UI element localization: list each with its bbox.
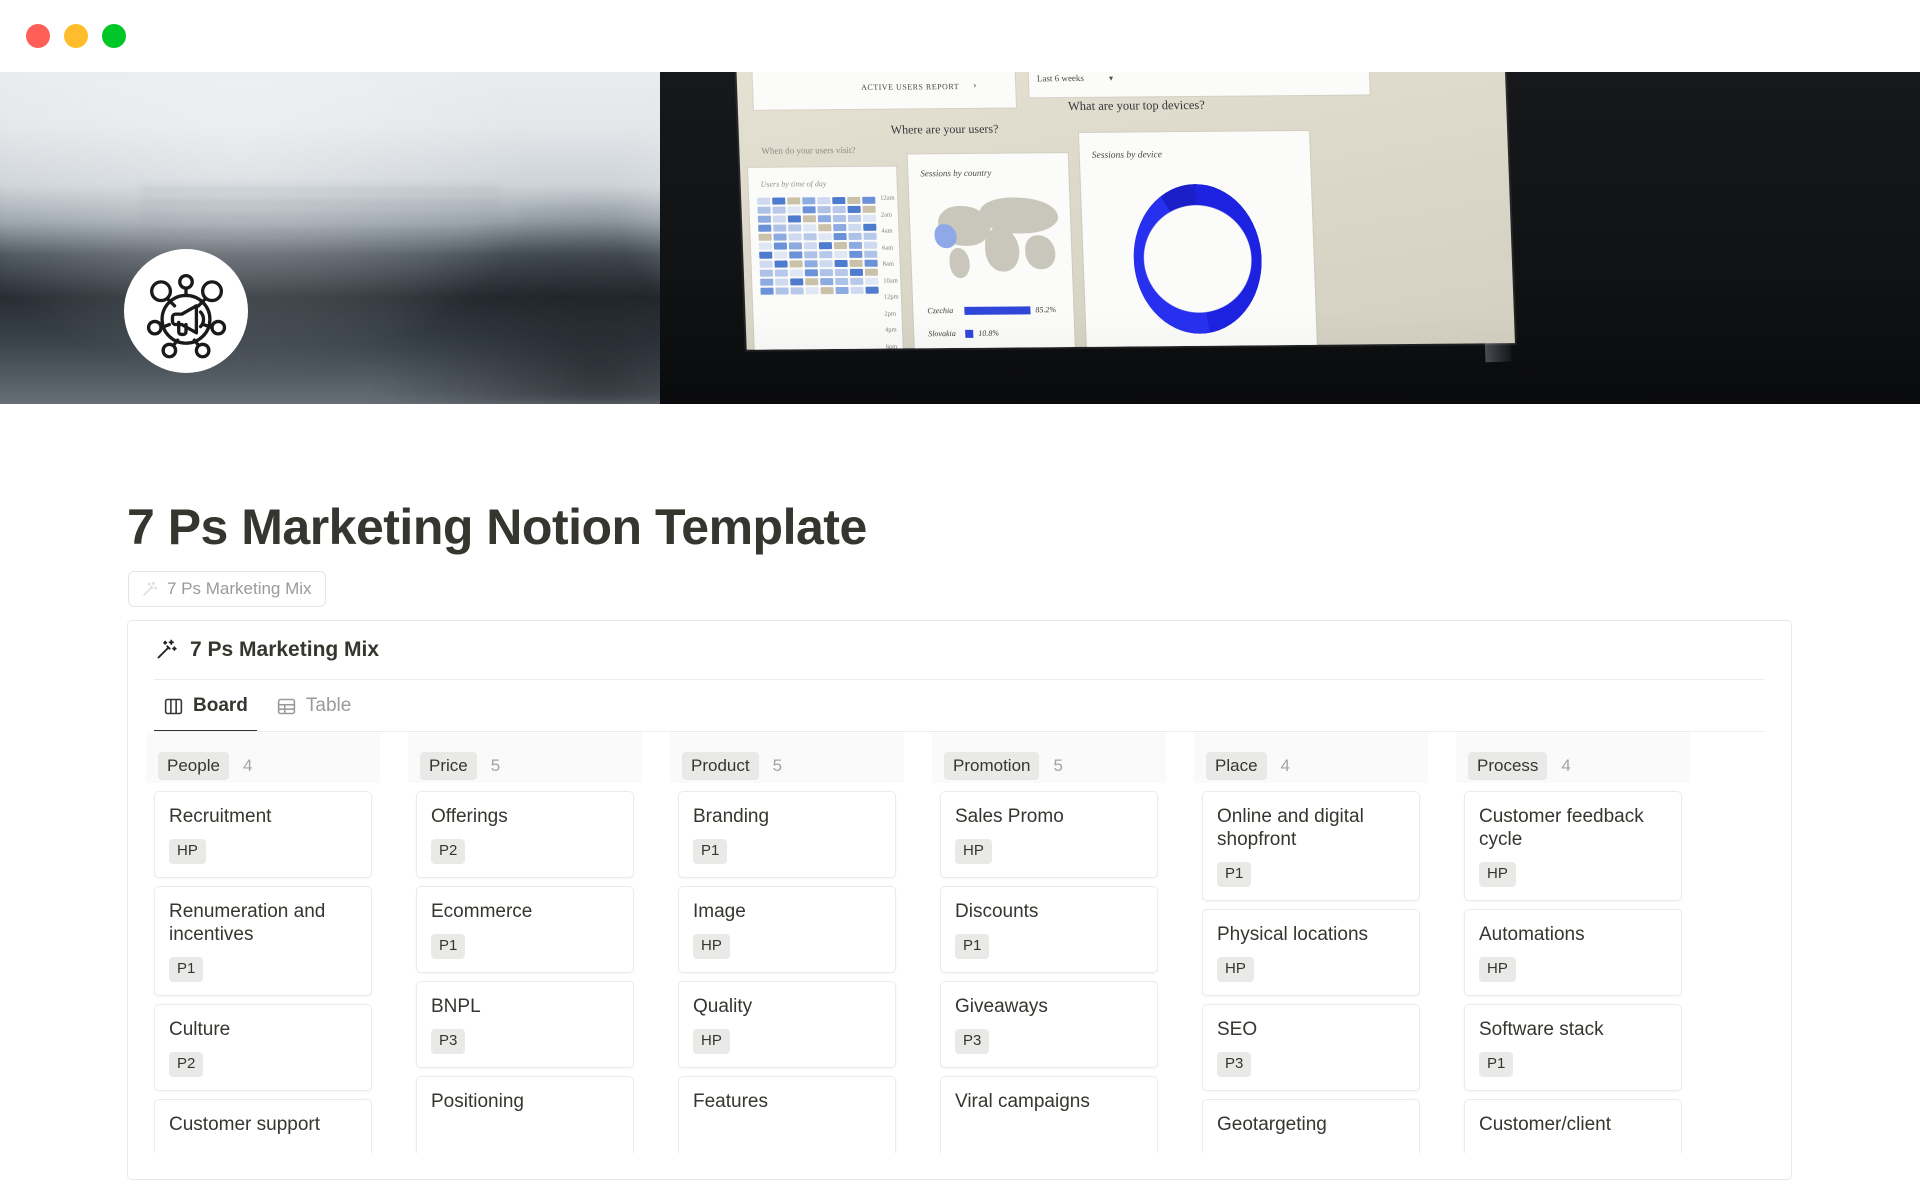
heatmap-cell bbox=[802, 206, 815, 213]
heatmap-cell bbox=[760, 270, 773, 277]
board-column-cards: Online and digital shopfrontP1Physical l… bbox=[1202, 791, 1420, 1153]
heatmap-cell bbox=[805, 287, 818, 294]
board-column-name: Promotion bbox=[944, 752, 1039, 779]
heatmap-time-tick: 4pm bbox=[885, 327, 897, 334]
heatmap-cell bbox=[772, 207, 785, 214]
tab-board[interactable]: Board bbox=[154, 680, 257, 732]
heatmap-cell bbox=[832, 206, 845, 213]
board-card-title: Customer support bbox=[169, 1113, 357, 1136]
page-icon-avatar[interactable] bbox=[124, 249, 248, 373]
heatmap-cell bbox=[834, 242, 847, 249]
heatmap-cell bbox=[775, 278, 788, 285]
heatmap-cell bbox=[788, 215, 801, 222]
board-column-header[interactable]: Place4 bbox=[1202, 749, 1420, 783]
heatmap-cell bbox=[759, 261, 772, 268]
heatmap-cell bbox=[835, 287, 848, 294]
board-column-header-band: People4 bbox=[146, 733, 380, 783]
board-card-title: Customer/client bbox=[1479, 1113, 1667, 1136]
board-card-title: Geotargeting bbox=[1217, 1113, 1405, 1136]
board-column-cards: BrandingP1ImageHPQualityHPFeatures bbox=[678, 791, 896, 1153]
board-column-header[interactable]: Price5 bbox=[416, 749, 634, 783]
board-card[interactable]: Sales PromoHP bbox=[940, 791, 1158, 878]
database-title[interactable]: 7 Ps Marketing Mix bbox=[190, 638, 379, 662]
heatmap-time-tick: 12pm bbox=[884, 293, 899, 300]
board-column-count: 5 bbox=[491, 756, 500, 776]
board-column-header-band: Place4 bbox=[1194, 733, 1428, 783]
board-card-priority-tag: HP bbox=[1479, 957, 1516, 982]
heatmap-cell bbox=[820, 278, 833, 285]
board-card[interactable]: OfferingsP2 bbox=[416, 791, 634, 878]
board-card[interactable]: Renumeration and incentivesP1 bbox=[154, 886, 372, 996]
heatmap-cell bbox=[804, 242, 817, 249]
board-view: People4RecruitmentHPRenumeration and inc… bbox=[128, 733, 1791, 1153]
heatmap-cell bbox=[790, 269, 803, 276]
board-card-title: Quality bbox=[693, 995, 881, 1018]
heatmap-users-by-time bbox=[757, 197, 879, 295]
heatmap-cell bbox=[863, 224, 876, 231]
heatmap-cell bbox=[847, 206, 860, 213]
active-users-report-label: ACTIVE USERS REPORT bbox=[861, 82, 959, 92]
heatmap-cell bbox=[818, 224, 831, 231]
close-window-button[interactable] bbox=[26, 24, 50, 48]
heatmap-cell bbox=[802, 197, 815, 204]
heatmap-cell bbox=[773, 233, 786, 240]
heatmap-cell bbox=[849, 251, 862, 258]
board-column-name: Price bbox=[420, 752, 477, 779]
heatmap-cell bbox=[790, 278, 803, 285]
database-header: 7 Ps Marketing Mix bbox=[128, 621, 1791, 679]
board-column-cards: OfferingsP2EcommerceP1BNPLP3Positioning bbox=[416, 791, 634, 1153]
heatmap-cell bbox=[847, 197, 860, 204]
heatmap-cell bbox=[805, 269, 818, 276]
board-card-title: BNPL bbox=[431, 995, 619, 1018]
board-card-priority-tag: HP bbox=[955, 839, 992, 864]
question-when-users-visit: When do your users visit? bbox=[761, 145, 855, 156]
board-column-name: People bbox=[158, 752, 229, 779]
heatmap-cell bbox=[804, 251, 817, 258]
heatmap-cell bbox=[758, 234, 771, 241]
heatmap-cell bbox=[864, 260, 877, 267]
chevron-right-icon: › bbox=[973, 80, 977, 91]
date-range-selector[interactable]: Last 6 weeks bbox=[1037, 73, 1084, 83]
board-column-process: Process4Customer feedback cycleHPAutomat… bbox=[1464, 749, 1682, 1153]
heatmap-time-tick: 6pm bbox=[886, 343, 898, 350]
heatmap-cell bbox=[848, 233, 861, 240]
chart-title-users-by-time: Users by time of day bbox=[760, 179, 826, 189]
board-column-count: 5 bbox=[1053, 756, 1062, 776]
heatmap-cell bbox=[820, 269, 833, 276]
heatmap-time-tick: 8am bbox=[883, 261, 894, 268]
breadcrumb[interactable]: 7 Ps Marketing Mix bbox=[128, 571, 326, 607]
board-column-name: Place bbox=[1206, 752, 1267, 779]
heatmap-cell bbox=[818, 215, 831, 222]
heatmap-cell bbox=[865, 287, 878, 294]
heatmap-cell bbox=[787, 206, 800, 213]
heatmap-time-tick: 2pm bbox=[884, 310, 896, 317]
chart-title-sessions-by-device: Sessions by device bbox=[1092, 150, 1163, 161]
board-column-cards: RecruitmentHPRenumeration and incentives… bbox=[154, 791, 372, 1153]
board-card-priority-tag: P1 bbox=[431, 934, 465, 959]
heatmap-cell bbox=[833, 224, 846, 231]
heatmap-time-tick: 12am bbox=[880, 195, 895, 202]
heatmap-cell bbox=[832, 197, 845, 204]
board-column-header[interactable]: Process4 bbox=[1464, 749, 1682, 783]
board-card[interactable]: ImageHP bbox=[678, 886, 896, 973]
board-card-title: Giveaways bbox=[955, 995, 1143, 1018]
board-column-header-band: Price5 bbox=[408, 733, 642, 783]
heatmap-cell bbox=[863, 206, 876, 213]
board-card-title: Software stack bbox=[1479, 1018, 1667, 1041]
board-card-priority-tag: HP bbox=[169, 839, 206, 864]
heatmap-cell bbox=[773, 216, 786, 223]
board-card[interactable]: Viral campaigns bbox=[940, 1076, 1158, 1153]
heatmap-cell bbox=[774, 242, 787, 249]
board-card-priority-tag: P1 bbox=[693, 839, 727, 864]
minimize-window-button[interactable] bbox=[64, 24, 88, 48]
heatmap-cell bbox=[788, 224, 801, 231]
board-card[interactable]: SEOP3 bbox=[1202, 1004, 1420, 1091]
board-card-title: Offerings bbox=[431, 805, 619, 828]
board-column-promotion: Promotion5Sales PromoHPDiscountsP1Giveaw… bbox=[940, 749, 1158, 1153]
board-card[interactable]: QualityHP bbox=[678, 981, 896, 1068]
heatmap-cell bbox=[863, 233, 876, 240]
magic-wand-icon bbox=[140, 580, 159, 599]
board-card-priority-tag: HP bbox=[1217, 957, 1254, 982]
board-column-name: Process bbox=[1468, 752, 1547, 779]
board-column-count: 4 bbox=[243, 756, 252, 776]
heatmap-cell bbox=[789, 251, 802, 258]
cover-shelf-blur bbox=[140, 188, 500, 258]
heatmap-cell bbox=[848, 224, 861, 231]
heatmap-time-tick: 4am bbox=[881, 228, 892, 235]
board-card[interactable]: CultureP2 bbox=[154, 1004, 372, 1091]
board-card[interactable]: Physical locationsHP bbox=[1202, 909, 1420, 996]
board-card-title: Ecommerce bbox=[431, 900, 619, 923]
board-column-name: Product bbox=[682, 752, 759, 779]
tab-label: Board bbox=[193, 695, 248, 717]
board-card-priority-tag: P3 bbox=[431, 1029, 465, 1054]
country-label-1: Czechia bbox=[927, 306, 959, 315]
heatmap-cell bbox=[849, 260, 862, 267]
board-column-header-band: Promotion5 bbox=[932, 733, 1166, 783]
heatmap-cell bbox=[805, 278, 818, 285]
heatmap-cell bbox=[789, 242, 802, 249]
heatmap-cell bbox=[789, 260, 802, 267]
board-card-title: Image bbox=[693, 900, 881, 923]
heatmap-cell bbox=[864, 242, 877, 249]
board-column-cards: Customer feedback cycleHPAutomationsHPSo… bbox=[1464, 791, 1682, 1153]
country-bar-1 bbox=[964, 306, 1030, 315]
board-card[interactable]: Software stackP1 bbox=[1464, 1004, 1682, 1091]
board-card-priority-tag: P2 bbox=[431, 839, 465, 864]
country-value-1: 85.2% bbox=[1035, 305, 1056, 314]
board-column-place: Place4Online and digital shopfrontP1Phys… bbox=[1202, 749, 1420, 1153]
board-column-header[interactable]: Product5 bbox=[678, 749, 896, 783]
board-column-header[interactable]: Promotion5 bbox=[940, 749, 1158, 783]
board-column-count: 5 bbox=[773, 756, 782, 776]
database-tabs-divider bbox=[154, 731, 1765, 732]
heatmap-cell bbox=[760, 288, 773, 295]
board-card[interactable]: Geotargeting bbox=[1202, 1099, 1420, 1153]
board-card-title: Physical locations bbox=[1217, 923, 1405, 946]
heatmap-cell bbox=[774, 260, 787, 267]
tab-table[interactable]: Table bbox=[267, 680, 360, 732]
heatmap-cell bbox=[865, 278, 878, 285]
heatmap-cell bbox=[803, 233, 816, 240]
board-card[interactable]: BrandingP1 bbox=[678, 791, 896, 878]
board-card-priority-tag: HP bbox=[1479, 862, 1516, 887]
heatmap-cell bbox=[819, 251, 832, 258]
board-card[interactable]: GiveawaysP3 bbox=[940, 981, 1158, 1068]
heatmap-cell bbox=[788, 233, 801, 240]
marketing-megaphone-network-icon bbox=[134, 259, 238, 363]
heatmap-cell bbox=[775, 287, 788, 294]
heatmap-cell bbox=[803, 224, 816, 231]
board-column-header-band: Product5 bbox=[670, 733, 904, 783]
board-card-priority-tag: P1 bbox=[1217, 862, 1251, 887]
heatmap-cell bbox=[864, 251, 877, 258]
heatmap-cell bbox=[790, 287, 803, 294]
country-bar-row-2: Slovakia 10.8% bbox=[928, 329, 999, 339]
heatmap-cell bbox=[787, 197, 800, 204]
heatmap-time-tick: 6am bbox=[882, 244, 893, 251]
board-card-priority-tag: P1 bbox=[169, 957, 203, 982]
heatmap-cell bbox=[758, 225, 771, 232]
board-card-title: Features bbox=[693, 1090, 881, 1113]
heatmap-cell bbox=[759, 252, 772, 259]
heatmap-cell bbox=[773, 225, 786, 232]
board-card-title: SEO bbox=[1217, 1018, 1405, 1041]
board-card-title: Branding bbox=[693, 805, 881, 828]
board-card[interactable]: Online and digital shopfrontP1 bbox=[1202, 791, 1420, 901]
window-titlebar bbox=[0, 0, 1920, 72]
board-card[interactable]: AutomationsHP bbox=[1464, 909, 1682, 996]
heatmap-cell bbox=[865, 269, 878, 276]
board-card-priority-tag: P1 bbox=[1479, 1052, 1513, 1077]
heatmap-cell bbox=[850, 278, 863, 285]
heatmap-cell bbox=[757, 207, 770, 214]
heatmap-cell bbox=[772, 198, 785, 205]
laptop-body: ACTIVE USERS REPORT › Last 6 weeks ▾ COH… bbox=[660, 72, 1920, 404]
heatmap-cell bbox=[833, 215, 846, 222]
board-column-people: People4RecruitmentHPRenumeration and inc… bbox=[154, 749, 372, 1153]
board-card-priority-tag: P3 bbox=[955, 1029, 989, 1054]
board-card-title: Viral campaigns bbox=[955, 1090, 1143, 1113]
heatmap-cell bbox=[850, 269, 863, 276]
board-card-title: Automations bbox=[1479, 923, 1667, 946]
board-card[interactable]: Positioning bbox=[416, 1076, 634, 1153]
heatmap-cell bbox=[834, 251, 847, 258]
board-card-title: Sales Promo bbox=[955, 805, 1143, 828]
heatmap-cell bbox=[817, 197, 830, 204]
board-column-header-band: Process4 bbox=[1456, 733, 1690, 783]
board-card-priority-tag: HP bbox=[693, 1029, 730, 1054]
heatmap-cell bbox=[848, 215, 861, 222]
board-card-title: Customer feedback cycle bbox=[1479, 805, 1667, 851]
heatmap-cell bbox=[820, 287, 833, 294]
heatmap-cell bbox=[818, 233, 831, 240]
board-column-price: Price5OfferingsP2EcommerceP1BNPLP3Positi… bbox=[416, 749, 634, 1153]
heatmap-cell bbox=[835, 269, 848, 276]
board-column-cards: Sales PromoHPDiscountsP1GiveawaysP3Viral… bbox=[940, 791, 1158, 1153]
page-title: 7 Ps Marketing Notion Template bbox=[127, 500, 867, 555]
heatmap-cell bbox=[817, 206, 830, 213]
heatmap-cell bbox=[775, 269, 788, 276]
board-card[interactable]: RecruitmentHP bbox=[154, 791, 372, 878]
board-card[interactable]: EcommerceP1 bbox=[416, 886, 634, 973]
country-label-2: Slovakia bbox=[928, 329, 960, 338]
country-bar-row-1: Czechia 85.2% bbox=[927, 305, 1056, 315]
board-card-priority-tag: P2 bbox=[169, 1052, 203, 1077]
maximize-window-button[interactable] bbox=[102, 24, 126, 48]
board-card-priority-tag: P3 bbox=[1217, 1052, 1251, 1077]
heatmap-cell bbox=[819, 260, 832, 267]
magic-wand-icon bbox=[154, 638, 178, 662]
heatmap-cell bbox=[760, 279, 773, 286]
chart-title-sessions-by-country: Sessions by country bbox=[920, 168, 991, 179]
heatmap-cell bbox=[774, 251, 787, 258]
board-column-product: Product5BrandingP1ImageHPQualityHPFeatur… bbox=[678, 749, 896, 1153]
board-card[interactable]: Customer/client bbox=[1464, 1099, 1682, 1153]
board-card-priority-tag: HP bbox=[693, 934, 730, 959]
heatmap-cell bbox=[849, 242, 862, 249]
heatmap-time-tick: 2am bbox=[881, 211, 892, 218]
board-card[interactable]: DiscountsP1 bbox=[940, 886, 1158, 973]
heatmap-cell bbox=[757, 198, 770, 205]
board-card-title: Renumeration and incentives bbox=[169, 900, 357, 946]
board-column-count: 4 bbox=[1561, 756, 1570, 776]
database-block: 7 Ps Marketing Mix BoardTable People4Rec… bbox=[127, 620, 1792, 1180]
database-view-tabs: BoardTable bbox=[128, 680, 1791, 732]
board-card-title: Online and digital shopfront bbox=[1217, 805, 1405, 851]
board-column-header[interactable]: People4 bbox=[154, 749, 372, 783]
board-card-title: Culture bbox=[169, 1018, 357, 1041]
heatmap-cell bbox=[863, 215, 876, 222]
board-card-title: Discounts bbox=[955, 900, 1143, 923]
heatmap-cell bbox=[804, 260, 817, 267]
question-top-devices: What are your top devices? bbox=[1068, 98, 1205, 114]
page-cover-image[interactable]: ACTIVE USERS REPORT › Last 6 weeks ▾ COH… bbox=[0, 72, 1920, 404]
heatmap-cell bbox=[833, 233, 846, 240]
tab-label: Table bbox=[306, 695, 351, 717]
heatmap-cell bbox=[850, 287, 863, 294]
board-icon bbox=[163, 696, 184, 717]
board-card[interactable]: Customer support bbox=[154, 1099, 372, 1153]
app-window: ACTIVE USERS REPORT › Last 6 weeks ▾ COH… bbox=[0, 0, 1920, 1200]
laptop-screen: ACTIVE USERS REPORT › Last 6 weeks ▾ COH… bbox=[736, 72, 1515, 350]
country-bar-2 bbox=[965, 329, 973, 337]
heatmap-cell bbox=[803, 215, 816, 222]
board-card-title: Recruitment bbox=[169, 805, 357, 828]
breadcrumb-label: 7 Ps Marketing Mix bbox=[167, 579, 312, 599]
board-card[interactable]: BNPLP3 bbox=[416, 981, 634, 1068]
heatmap-cell bbox=[819, 242, 832, 249]
board-column-count: 4 bbox=[1281, 756, 1290, 776]
table-icon bbox=[276, 696, 297, 717]
question-where-are-users: Where are your users? bbox=[890, 122, 998, 138]
heatmap-cell bbox=[759, 243, 772, 250]
chevron-down-icon: ▾ bbox=[1109, 74, 1113, 83]
board-card[interactable]: Features bbox=[678, 1076, 896, 1153]
country-value-2: 10.8% bbox=[978, 329, 999, 338]
heatmap-time-tick: 10am bbox=[883, 277, 898, 284]
board-card[interactable]: Customer feedback cycleHP bbox=[1464, 791, 1682, 901]
heatmap-cell bbox=[834, 260, 847, 267]
board-card-title: Positioning bbox=[431, 1090, 619, 1113]
heatmap-cell bbox=[835, 278, 848, 285]
board-card-priority-tag: P1 bbox=[955, 934, 989, 959]
heatmap-cell bbox=[862, 197, 875, 204]
heatmap-cell bbox=[758, 216, 771, 223]
